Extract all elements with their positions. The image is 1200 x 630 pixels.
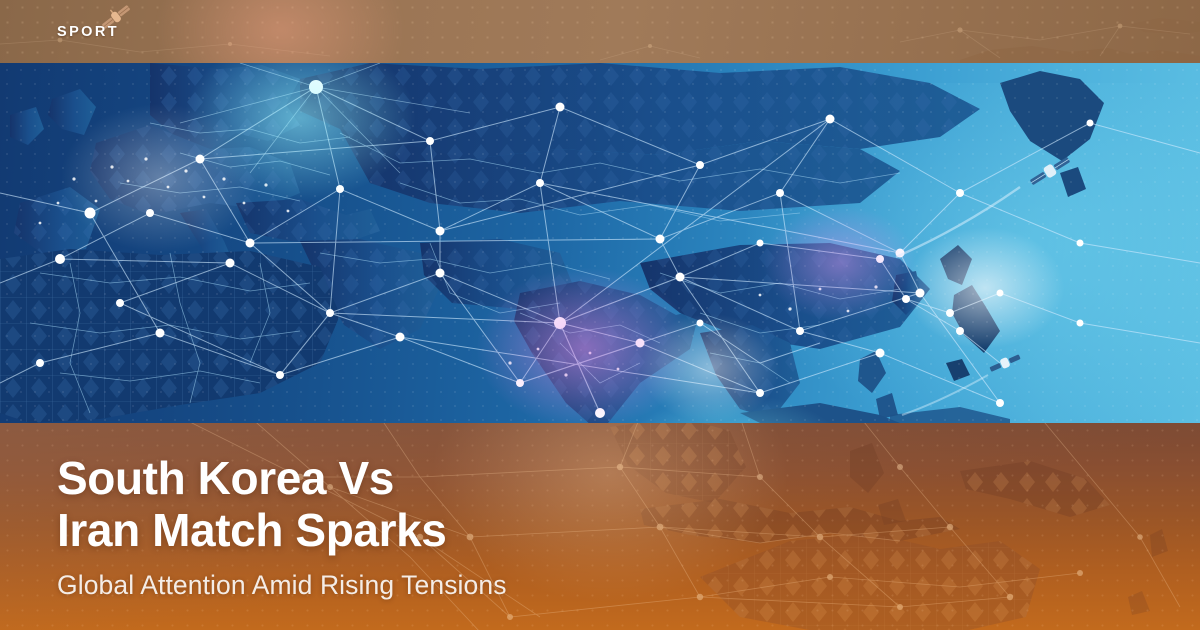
headline-line-1: South Korea Vs xyxy=(57,452,394,504)
world-map-band xyxy=(0,63,1200,423)
page-subtitle: Global Attention Amid Rising Tensions xyxy=(57,570,777,600)
page-title: South Korea Vs Iran Match Sparks xyxy=(57,452,777,556)
map-dot-overlay xyxy=(0,63,1200,423)
headline-line-2: Iran Match Sparks xyxy=(57,504,777,556)
header-band: SPORT xyxy=(0,0,1200,63)
brand-logo[interactable]: SPORT xyxy=(0,0,320,63)
brand-label: SPORT xyxy=(57,24,119,40)
social-card: SPORT xyxy=(0,0,1200,630)
headline-text-block: South Korea Vs Iran Match Sparks Global … xyxy=(57,452,777,600)
